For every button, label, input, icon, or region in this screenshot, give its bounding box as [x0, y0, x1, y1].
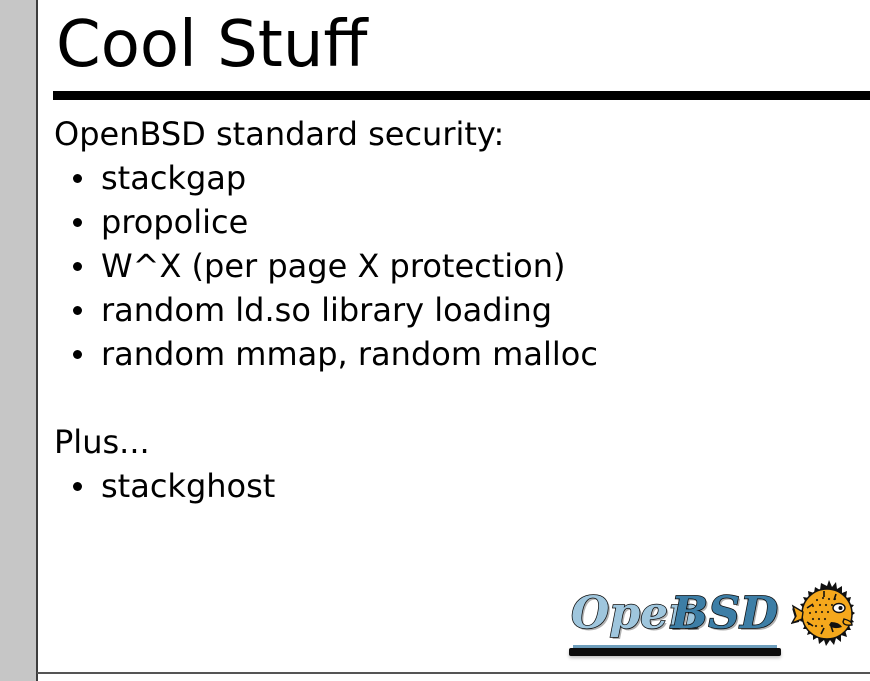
slide-canvas[interactable]: Cool Stuff OpenBSD standard security: st… [38, 0, 870, 672]
list-item: stackgap [54, 156, 854, 200]
bullet-dot-icon [73, 482, 82, 491]
bullet-dot-icon [73, 306, 82, 315]
slide-bottom-edge [37, 672, 870, 674]
list-item-label: W^X (per page X protection) [101, 247, 566, 285]
puffy-blowfish-icon [791, 578, 858, 666]
bullet-dot-icon [73, 350, 82, 359]
list-item: random ld.so library loading [54, 288, 854, 332]
slide-left-gutter[interactable] [0, 0, 36, 681]
slide-body: OpenBSD standard security: stackgap prop… [54, 112, 854, 508]
wordmark-underbar [569, 648, 781, 656]
list-item: W^X (per page X protection) [54, 244, 854, 288]
list-item-label: propolice [101, 203, 248, 241]
list-item-label: random ld.so library loading [101, 291, 552, 329]
list-item-label: stackghost [101, 467, 275, 505]
body-spacer [54, 376, 854, 420]
slide-title: Cool Stuff [56, 8, 368, 82]
list-item-label: random mmap, random malloc [101, 335, 598, 373]
bullet-list-security: stackgap propolice W^X (per page X prote… [54, 156, 854, 376]
openbsd-logo: Open BSD [563, 578, 858, 666]
bullet-dot-icon [73, 174, 82, 183]
openbsd-wordmark: Open BSD [563, 590, 781, 650]
body-heading-security: OpenBSD standard security: [54, 112, 854, 156]
wordmark-bsd-text: BSD [671, 590, 778, 638]
list-item-label: stackgap [101, 159, 246, 197]
list-item: random mmap, random malloc [54, 332, 854, 376]
list-item: propolice [54, 200, 854, 244]
list-item: stackghost [54, 464, 854, 508]
bullet-dot-icon [73, 218, 82, 227]
slide-viewer: Cool Stuff OpenBSD standard security: st… [0, 0, 870, 681]
body-heading-plus: Plus... [54, 420, 854, 464]
bullet-dot-icon [73, 262, 82, 271]
title-underline-rule [53, 91, 870, 100]
bullet-list-plus: stackghost [54, 464, 854, 508]
